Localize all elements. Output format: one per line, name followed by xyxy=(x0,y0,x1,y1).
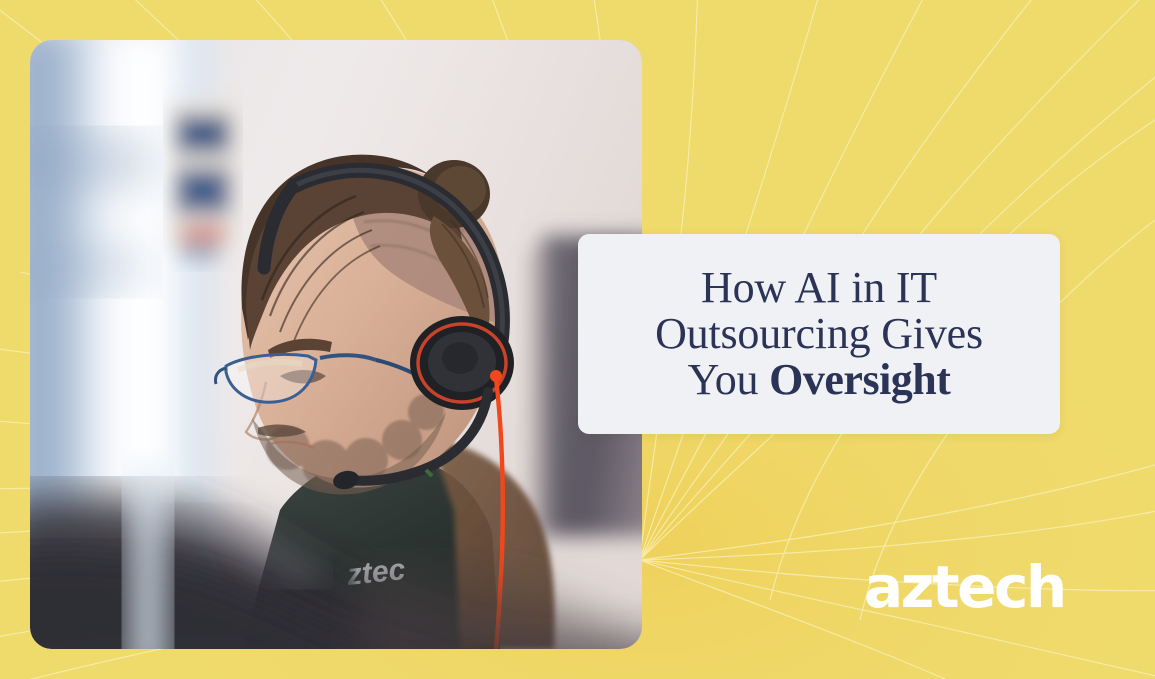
title-line-2: Outsourcing Gives xyxy=(592,311,1046,357)
aztech-wordmark: aztech xyxy=(864,558,1065,616)
title-line-3-bold: Oversight xyxy=(769,355,950,404)
aztech-logo-text: aztech xyxy=(864,556,1064,618)
title-line-1: How AI in IT xyxy=(592,265,1046,311)
title-card: How AI in IT Outsourcing Gives You Overs… xyxy=(578,234,1060,434)
social-card-canvas: ztec xyxy=(0,0,1155,679)
title-line-3: You Oversight xyxy=(592,357,1046,403)
title-line-3-prefix: You xyxy=(688,355,770,404)
page-title: How AI in IT Outsourcing Gives You Overs… xyxy=(578,265,1060,402)
hero-photo: ztec xyxy=(30,40,642,649)
